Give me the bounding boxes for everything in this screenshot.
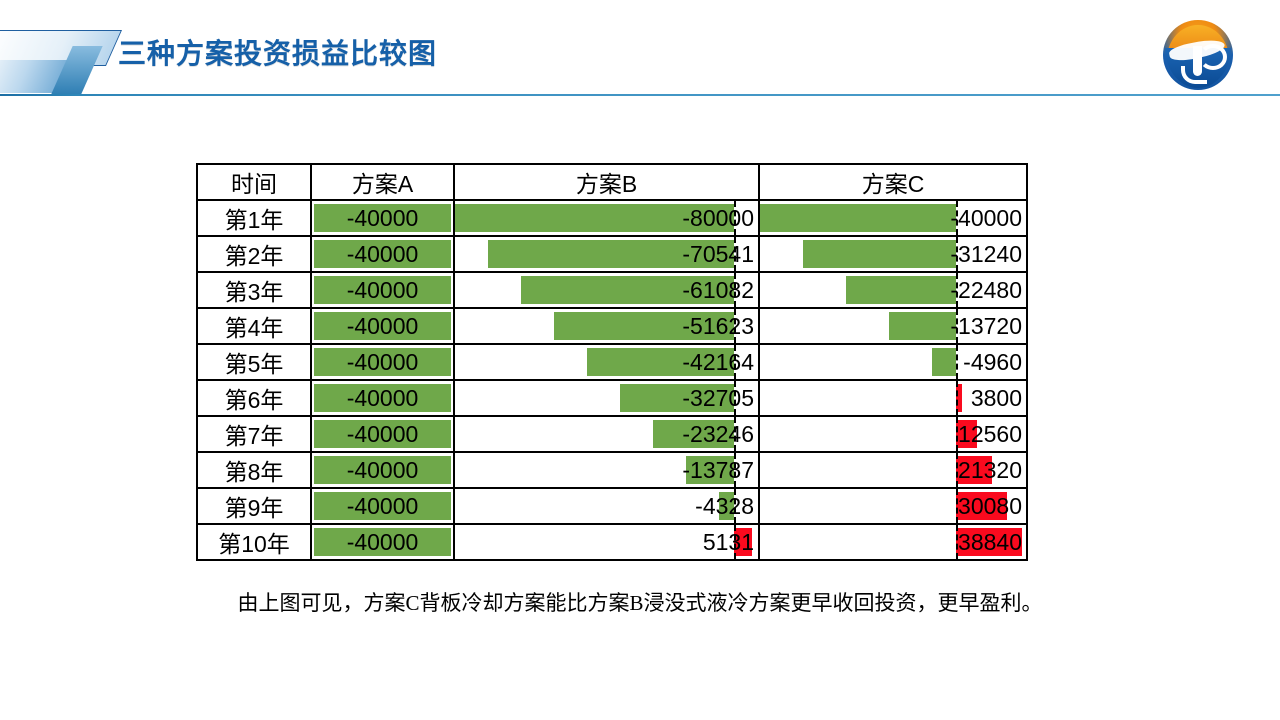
- value-plan-b: -80000: [682, 201, 754, 235]
- value-plan-a: -40000: [312, 309, 453, 343]
- value-plan-b: -13787: [682, 453, 754, 487]
- value-plan-c: 30080: [958, 489, 1022, 523]
- cell-plan-b: 5131: [454, 524, 759, 560]
- cell-plan-b: -13787: [454, 452, 759, 488]
- value-plan-a: -40000: [312, 417, 453, 451]
- value-plan-b: -61082: [682, 273, 754, 307]
- row-label-year: 第9年: [197, 488, 311, 524]
- value-plan-c: 21320: [958, 453, 1022, 487]
- value-plan-c: -31240: [950, 237, 1022, 271]
- cell-plan-c: 12560: [759, 416, 1027, 452]
- data-bar-plan-c: [932, 348, 956, 376]
- value-plan-c: 12560: [958, 417, 1022, 451]
- value-plan-a: -40000: [312, 345, 453, 379]
- table-row: 第6年-40000-327053800: [197, 380, 1027, 416]
- cell-plan-c: 21320: [759, 452, 1027, 488]
- table-row: 第5年-40000-42164-4960: [197, 344, 1027, 380]
- row-label-year: 第4年: [197, 308, 311, 344]
- value-plan-a: -40000: [312, 273, 453, 307]
- cell-plan-c: 38840: [759, 524, 1027, 560]
- zero-axis-plan-c: [956, 345, 958, 379]
- column-header-time: 时间: [197, 164, 311, 200]
- value-plan-a: -40000: [312, 381, 453, 415]
- value-plan-c: 38840: [958, 525, 1022, 559]
- row-label-year: 第8年: [197, 452, 311, 488]
- row-label-year: 第10年: [197, 524, 311, 560]
- table-row: 第8年-40000-1378721320: [197, 452, 1027, 488]
- column-header-plan-c: 方案C: [759, 164, 1027, 200]
- cell-plan-c: -4960: [759, 344, 1027, 380]
- table-row: 第10年-40000513138840: [197, 524, 1027, 560]
- value-plan-b: -4328: [695, 489, 754, 523]
- data-bar-plan-c: [760, 204, 956, 232]
- cell-plan-a: -40000: [311, 344, 454, 380]
- zero-axis-plan-c: [956, 381, 958, 415]
- cell-plan-a: -40000: [311, 524, 454, 560]
- table-header-row: 时间 方案A 方案B 方案C: [197, 164, 1027, 200]
- table-body: 第1年-40000-80000-40000第2年-40000-70541-312…: [197, 200, 1027, 560]
- data-bar-plan-c: [846, 276, 956, 304]
- value-plan-a: -40000: [312, 237, 453, 271]
- value-plan-a: -40000: [312, 201, 453, 235]
- table-row: 第4年-40000-51623-13720: [197, 308, 1027, 344]
- cell-plan-c: -13720: [759, 308, 1027, 344]
- cell-plan-b: -80000: [454, 200, 759, 236]
- value-plan-a: -40000: [312, 489, 453, 523]
- row-label-year: 第6年: [197, 380, 311, 416]
- value-plan-b: -42164: [682, 345, 754, 379]
- value-plan-b: -32705: [682, 381, 754, 415]
- cell-plan-a: -40000: [311, 416, 454, 452]
- row-label-year: 第3年: [197, 272, 311, 308]
- value-plan-b: -51623: [682, 309, 754, 343]
- cell-plan-b: -51623: [454, 308, 759, 344]
- value-plan-a: -40000: [312, 525, 453, 559]
- table-row: 第1年-40000-80000-40000: [197, 200, 1027, 236]
- cell-plan-b: -70541: [454, 236, 759, 272]
- value-plan-c: -13720: [950, 309, 1022, 343]
- cell-plan-c: 3800: [759, 380, 1027, 416]
- cell-plan-a: -40000: [311, 308, 454, 344]
- table-row: 第3年-40000-61082-22480: [197, 272, 1027, 308]
- cell-plan-a: -40000: [311, 380, 454, 416]
- column-header-plan-a: 方案A: [311, 164, 454, 200]
- data-bar-plan-c: [889, 312, 956, 340]
- value-plan-b: -23246: [682, 417, 754, 451]
- header-divider: [0, 94, 1280, 96]
- cell-plan-a: -40000: [311, 488, 454, 524]
- value-plan-c: -40000: [950, 201, 1022, 235]
- cell-plan-a: -40000: [311, 452, 454, 488]
- value-plan-c: -4960: [963, 345, 1022, 379]
- cell-plan-c: -31240: [759, 236, 1027, 272]
- value-plan-c: -22480: [950, 273, 1022, 307]
- cell-plan-b: -4328: [454, 488, 759, 524]
- table-row: 第9年-40000-432830080: [197, 488, 1027, 524]
- table-row: 第2年-40000-70541-31240: [197, 236, 1027, 272]
- table-row: 第7年-40000-2324612560: [197, 416, 1027, 452]
- slide-caption: 由上图可见，方案C背板冷却方案能比方案B浸没式液冷方案更早收回投资，更早盈利。: [0, 587, 1280, 617]
- cell-plan-b: -42164: [454, 344, 759, 380]
- cell-plan-c: -22480: [759, 272, 1027, 308]
- comparison-table: 时间 方案A 方案B 方案C 第1年-40000-80000-40000第2年-…: [196, 163, 1028, 561]
- cell-plan-b: -32705: [454, 380, 759, 416]
- value-plan-c: 3800: [971, 381, 1022, 415]
- data-bar-plan-c: [803, 240, 956, 268]
- cell-plan-a: -40000: [311, 200, 454, 236]
- value-plan-b: 5131: [703, 525, 754, 559]
- cell-plan-b: -61082: [454, 272, 759, 308]
- row-label-year: 第1年: [197, 200, 311, 236]
- cell-plan-c: -40000: [759, 200, 1027, 236]
- cell-plan-a: -40000: [311, 272, 454, 308]
- row-label-year: 第7年: [197, 416, 311, 452]
- column-header-plan-b: 方案B: [454, 164, 759, 200]
- value-plan-a: -40000: [312, 453, 453, 487]
- page-title: 三种方案投资损益比较图: [118, 38, 437, 70]
- cell-plan-c: 30080: [759, 488, 1027, 524]
- cell-plan-b: -23246: [454, 416, 759, 452]
- row-label-year: 第2年: [197, 236, 311, 272]
- row-label-year: 第5年: [197, 344, 311, 380]
- company-logo-icon: [1163, 20, 1233, 90]
- slide-header: 三种方案投资损益比较图: [0, 0, 1280, 96]
- value-plan-b: -70541: [682, 237, 754, 271]
- cell-plan-a: -40000: [311, 236, 454, 272]
